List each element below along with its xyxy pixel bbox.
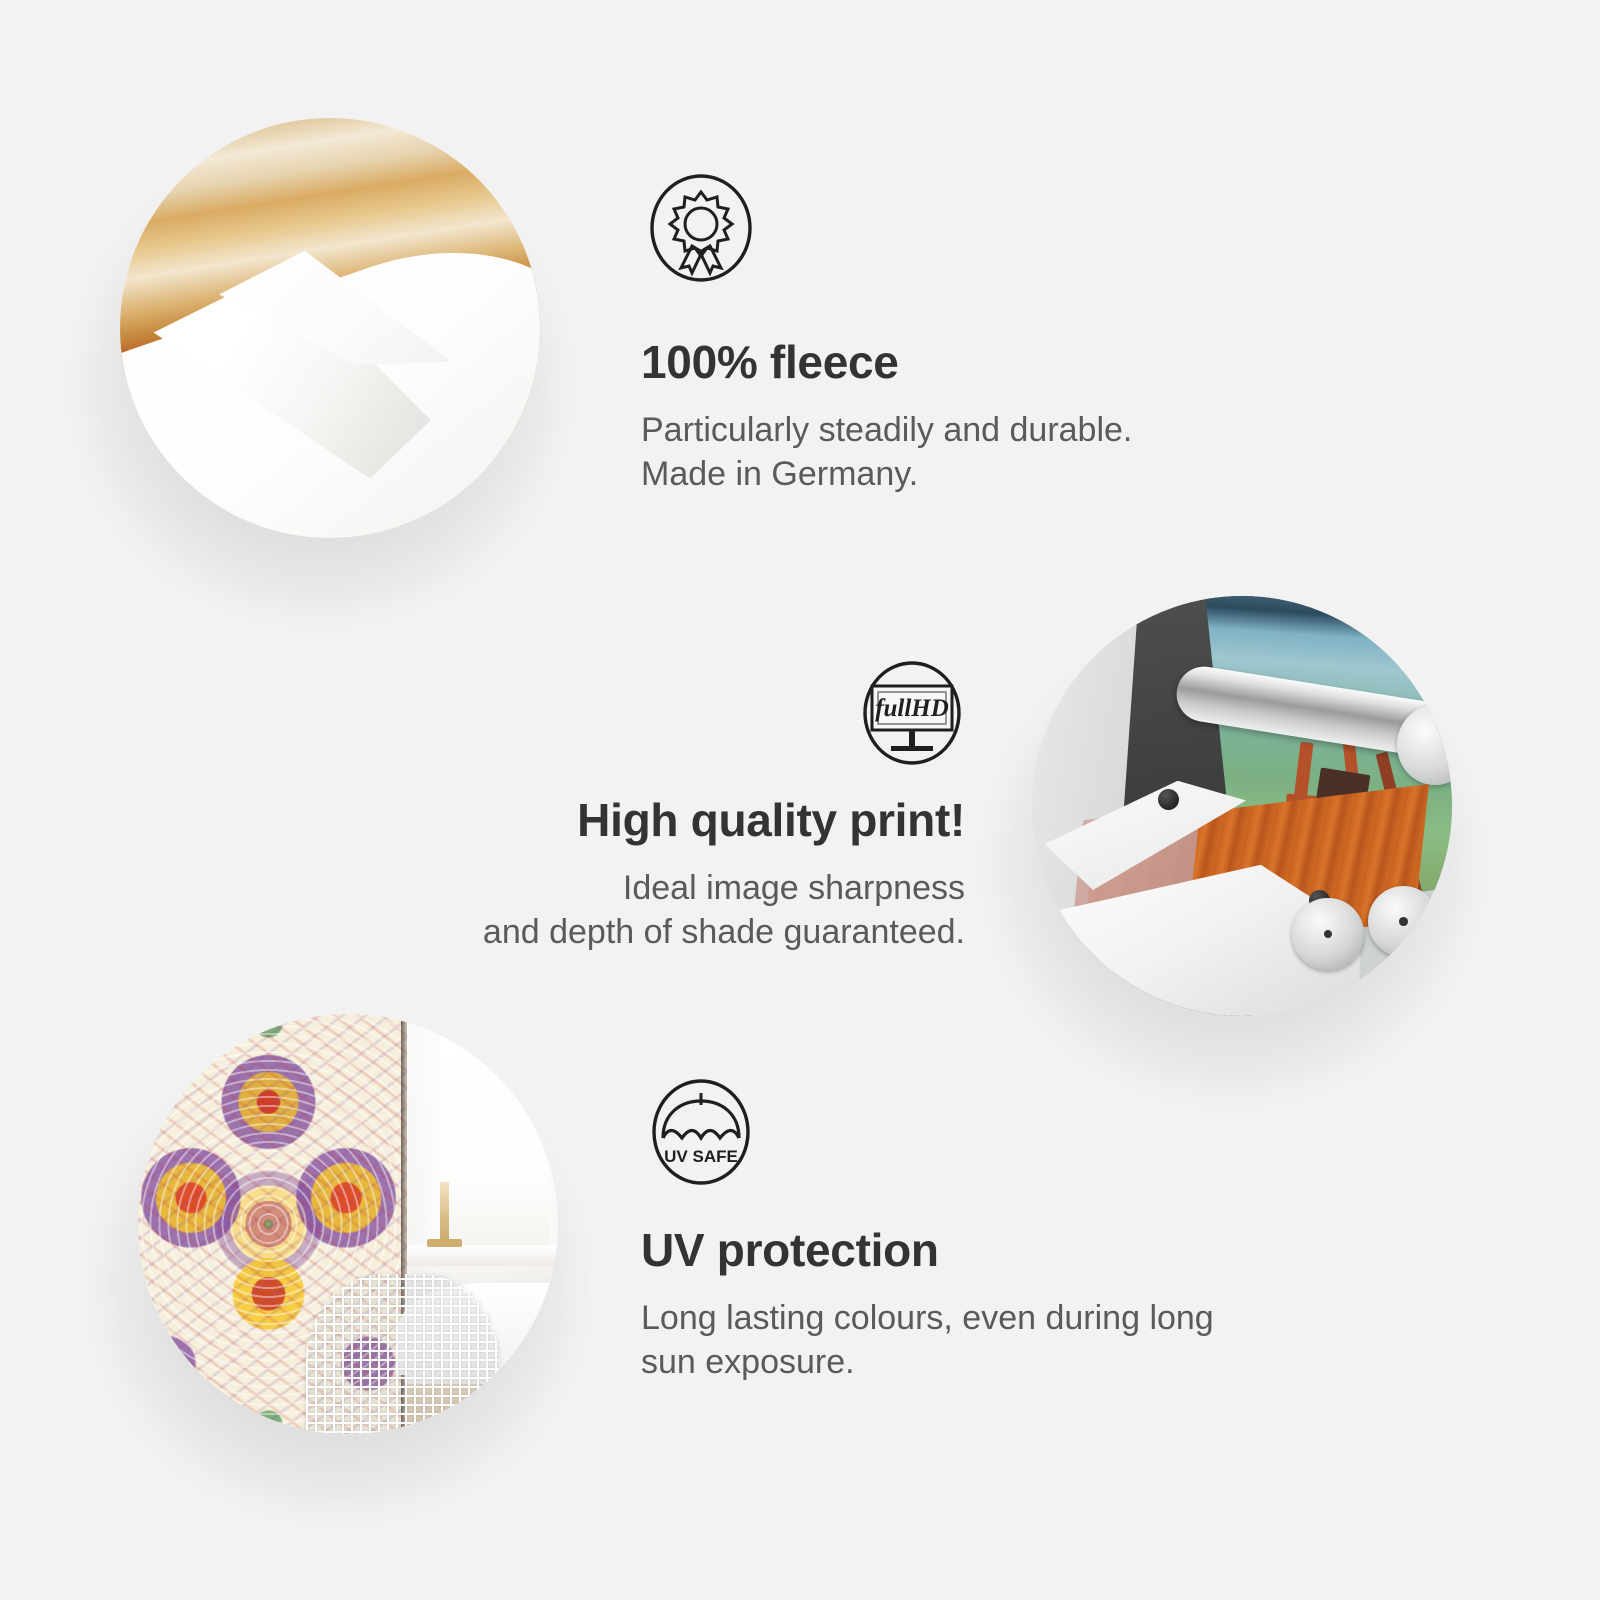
room-window [440,1031,549,1249]
award-ribbon-icon [645,172,757,284]
fleece-photo-clip [120,118,540,538]
mandala-wallpaper-room-photo [138,1014,558,1434]
fleece-description-line-1: Particularly steadily and durable. [641,408,1341,452]
fullhd-monitor-icon: fullHD [857,658,967,768]
uv-safe-icon-label: UV SAFE [664,1147,738,1166]
uv-text-block: UV protection Long lasting colours, even… [641,1226,1401,1385]
candle-holder [440,1182,449,1247]
dining-room-scene [138,1014,558,1434]
infographic-canvas: 100% fleece Particularly steadily and du… [0,0,1600,1600]
printer-wheel-left [1292,898,1363,969]
printer-scene [1032,596,1452,1016]
print-description-line-1: Ideal image sharpness [265,866,965,910]
uv-description-line-1: Long lasting colours, even during long [641,1296,1401,1340]
uv-safe-umbrella-icon: UV SAFE [645,1076,757,1188]
print-heading: High quality print! [265,796,965,844]
print-description-line-2: and depth of shade guaranteed. [265,910,965,954]
printer-wheel-right [1368,886,1439,957]
print-text-block: High quality print! Ideal image sharpnes… [265,796,965,955]
fleece-heading: 100% fleece [641,338,1341,386]
fullhd-icon-label: fullHD [875,695,949,722]
fleece-wallpaper-photo [120,118,540,538]
fleece-description-line-2: Made in Germany. [641,452,1341,496]
printer-photo-clip [1032,596,1452,1016]
uv-heading: UV protection [641,1226,1401,1274]
fleece-text-block: 100% fleece Particularly steadily and du… [641,338,1341,497]
large-format-printer-photo [1032,596,1452,1016]
room-window-sill [390,1245,558,1266]
mandala-photo-clip [138,1014,558,1434]
wire-dining-chair [306,1274,499,1434]
uv-description-line-2: sun exposure. [641,1340,1401,1384]
